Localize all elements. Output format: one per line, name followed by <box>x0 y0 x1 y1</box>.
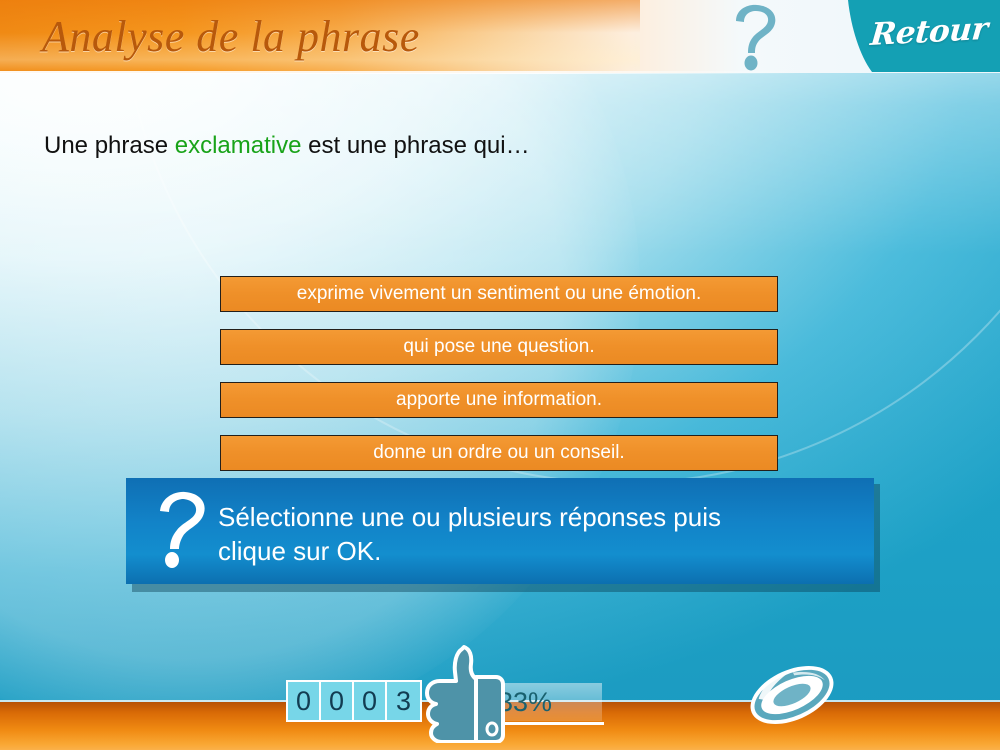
counter-digit: 0 <box>354 682 387 720</box>
answer-option-label: qui pose une question. <box>403 336 594 358</box>
ring-logo-icon[interactable] <box>744 655 840 735</box>
question-prompt: Une phrase exclamative est une phrase qu… <box>44 130 530 162</box>
answer-option-label: exprime vivement un sentiment ou une émo… <box>297 283 702 305</box>
score-counter: 0 0 0 3 <box>286 680 422 722</box>
counter-digit: 0 <box>321 682 354 720</box>
prompt-before: Une phrase <box>44 132 175 159</box>
instruction-dialog-text: Sélectionne une ou plusieurs réponses pu… <box>218 500 858 568</box>
question-mark-icon[interactable] <box>726 2 782 72</box>
answer-option[interactable]: qui pose une question. <box>220 329 778 365</box>
instruction-line-1: Sélectionne une ou plusieurs réponses pu… <box>218 500 858 534</box>
answer-option[interactable]: donne un ordre ou un conseil. <box>220 435 778 471</box>
quiz-screen: Analyse de la phrase Retour Une phrase e… <box>0 0 1000 750</box>
back-button[interactable]: Retour <box>842 0 1000 72</box>
answer-options-list: exprime vivement un sentiment ou une émo… <box>220 276 778 488</box>
answer-option[interactable]: exprime vivement un sentiment ou une émo… <box>220 276 778 312</box>
answer-option-label: apporte une information. <box>396 389 602 411</box>
instruction-line-2: clique sur OK. <box>218 534 858 568</box>
thumbs-up-icon <box>418 643 514 743</box>
prompt-after: est une phrase qui… <box>301 132 529 159</box>
page-title: Analyse de la phrase <box>42 8 420 66</box>
answer-option-label: donne un ordre ou un conseil. <box>373 442 624 464</box>
prompt-keyword: exclamative <box>175 132 302 159</box>
counter-digit: 3 <box>387 682 420 720</box>
instruction-dialog: Sélectionne une ou plusieurs réponses pu… <box>126 478 874 584</box>
header-bar: Analyse de la phrase Retour <box>0 0 1000 78</box>
question-mark-icon <box>152 490 208 570</box>
counter-digit: 0 <box>288 682 321 720</box>
answer-option[interactable]: apporte une information. <box>220 382 778 418</box>
